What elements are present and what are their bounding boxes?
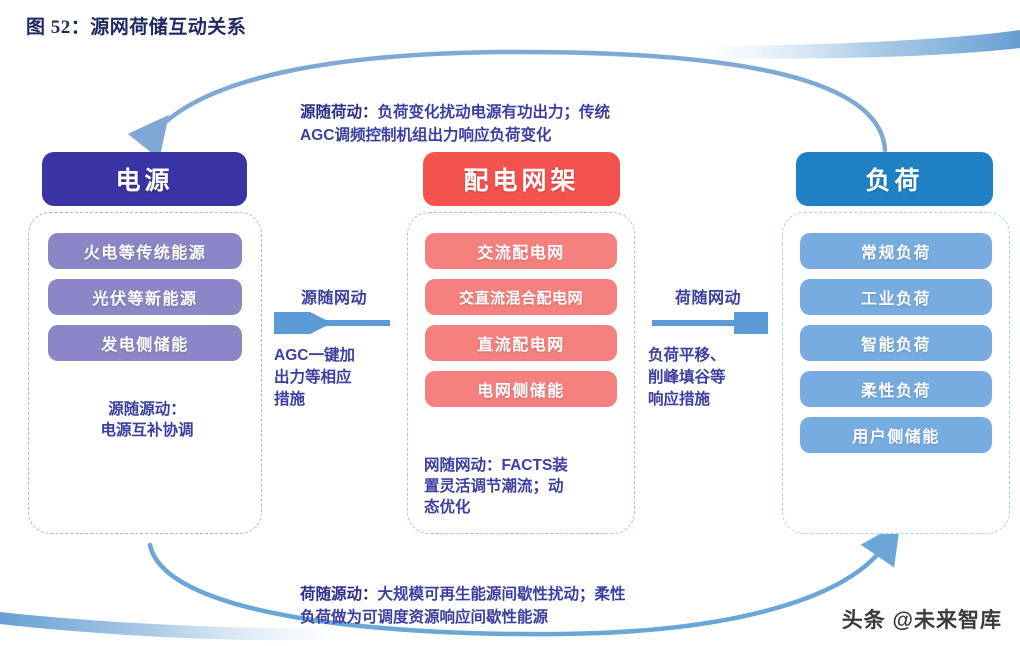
pill-source-1[interactable]: 光伏等新能源 [48, 279, 242, 315]
pill-grid-3[interactable]: 电网侧储能 [425, 371, 617, 407]
pill-source-2[interactable]: 发电侧储能 [48, 325, 242, 361]
annotation-top-lead: 源随荷动： [300, 104, 378, 121]
annotation-bottom-lead: 荷随源动： [300, 586, 378, 603]
source-header[interactable]: 电源 [42, 152, 247, 206]
connector-left-desc: AGC一键加 出力等相应 措施 [274, 345, 394, 411]
title-divider [0, 44, 1020, 45]
pill-grid-2[interactable]: 直流配电网 [425, 325, 617, 361]
pill-load-2[interactable]: 智能负荷 [800, 325, 992, 361]
pill-load-4[interactable]: 用户侧储能 [800, 417, 992, 453]
connector-right-title: 荷随网动 [648, 284, 768, 308]
source-body: 火电等传统能源 光伏等新能源 发电侧储能 [28, 212, 262, 534]
pill-grid-1[interactable]: 交直流混合配电网 [425, 279, 617, 315]
annotation-bottom: 荷随源动：大规模可再生能源间歇性扰动；柔性 负荷做为可调度资源响应间歇性能源 [300, 562, 840, 629]
watermark: 头条 @未来智库 [842, 604, 1002, 634]
load-body: 常规负荷 工业负荷 智能负荷 柔性负荷 用户侧储能 [782, 212, 1010, 534]
connector-load-follows-grid: 荷随网动 负荷平移、 削峰填谷等 响应措施 [648, 284, 768, 411]
load-header[interactable]: 负荷 [796, 152, 993, 206]
arrow-right-icon [648, 312, 768, 334]
grid-header[interactable]: 配电网架 [423, 152, 620, 206]
page-title: 图 52：源网荷储互动关系 [26, 12, 246, 39]
pill-load-1[interactable]: 工业负荷 [800, 279, 992, 315]
pill-load-0[interactable]: 常规负荷 [800, 233, 992, 269]
connector-right-desc: 负荷平移、 削峰填谷等 响应措施 [648, 345, 768, 411]
connector-source-follows-grid: 源随网动 AGC一键加 出力等相应 措施 [274, 284, 394, 411]
source-loop-caption: 源随源动： 电源互补协调 [52, 400, 242, 442]
annotation-top: 源随荷动：负荷变化扰动电源有功出力；传统 AGC调频控制机组出力响应负荷变化 [300, 80, 820, 147]
pill-load-3[interactable]: 柔性负荷 [800, 371, 992, 407]
connector-left-title: 源随网动 [274, 284, 394, 308]
arrow-left-icon [274, 312, 394, 334]
pill-source-0[interactable]: 火电等传统能源 [48, 233, 242, 269]
grid-loop-caption: 网随网动：FACTS装 置灵活调节潮流；动 态优化 [424, 456, 639, 519]
pill-grid-0[interactable]: 交流配电网 [425, 233, 617, 269]
